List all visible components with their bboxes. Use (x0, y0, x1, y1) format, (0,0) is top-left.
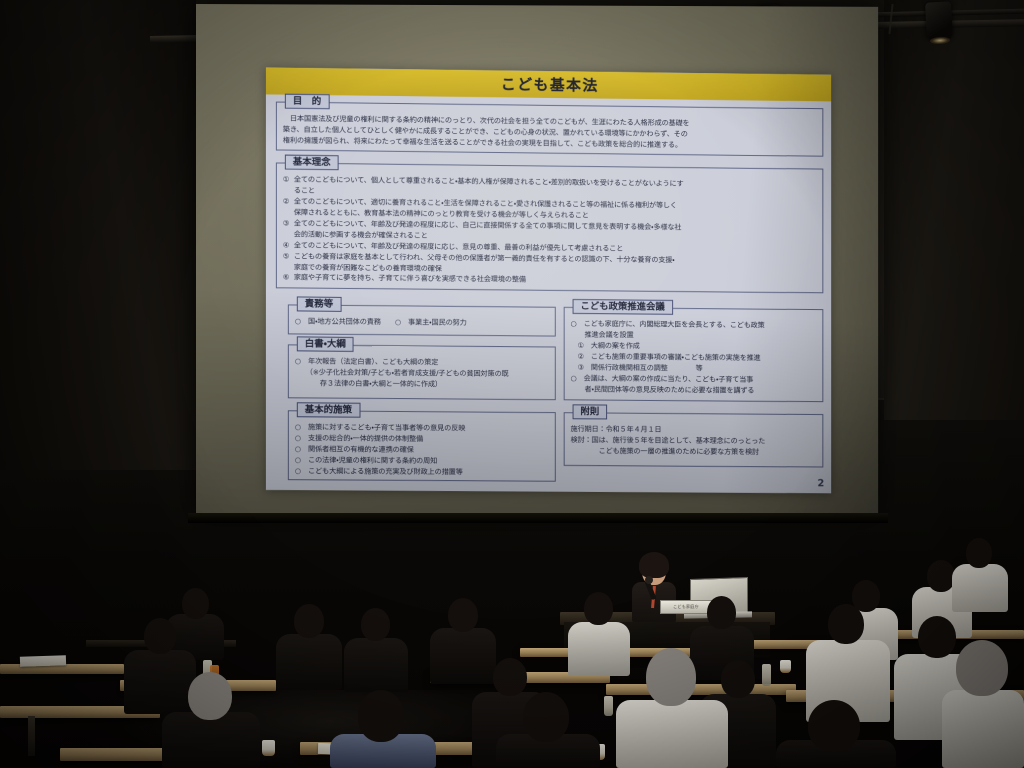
audience-person (496, 692, 600, 768)
slide-section-basic-measures-label: 基本的施策 (297, 402, 360, 417)
conference-room-photo: こども基本法 目 的 日本国憲法及び児童の権利に関する条約の精神にのっとり、次代… (0, 0, 1024, 768)
slide-section-supplementary-label: 附則 (573, 404, 608, 419)
slide-section-council: こども政策推進会議 ○ こども家庭庁に、内閣総理大臣を会長とする、こども政策 推… (564, 307, 824, 402)
person-torso (952, 564, 1008, 612)
paper-cup (262, 740, 275, 756)
person-head (646, 648, 696, 706)
slide-section-purpose: 目 的 日本国憲法及び児童の権利に関する条約の精神にのっとり、次代の社会を担う全… (276, 102, 823, 157)
slide-section-whitepaper-label: 白書・大綱 (297, 336, 354, 351)
person-torso (344, 638, 408, 692)
slide-section-supplementary-body: 施行期日：令和５年４月１日 検討：国は、施行後５年を目途として、基本理念にのっと… (565, 413, 823, 462)
projection-screen: こども基本法 目 的 日本国憲法及び児童の権利に関する条約の精神にのっとり、次代… (196, 4, 878, 517)
person-head (448, 598, 478, 632)
principle-text: 家庭や子育てに夢を持ち、子育てに伴う喜びを実感できる社会環境の整備 (294, 273, 526, 284)
principle-marker: ⑤ (283, 251, 294, 262)
duties-item: ○ 国・地方公共団体の責務 ○ 事業主・国民の努力 (295, 316, 549, 329)
room-wall-right (884, 0, 1024, 420)
person-head (493, 658, 527, 696)
paper-cup (780, 660, 791, 673)
audience-person (776, 700, 896, 768)
slide-section-purpose-body: 日本国憲法及び児童の権利に関する条約の精神にのっとり、次代の社会を担う全てのこど… (277, 103, 822, 157)
slide-section-whitepaper: 白書・大綱 ○ 年次報告（法定白書）、こども大綱の策定 （※少子化社会対策/子ど… (288, 344, 556, 400)
water-bottle (604, 696, 613, 716)
person-head (188, 672, 232, 720)
presenter-hair (639, 552, 669, 578)
room-wall-left (0, 0, 196, 470)
slide-title: こども基本法 (266, 67, 831, 101)
principle-marker: ③ (283, 218, 294, 229)
council-item: 者・民間団体等の意見反映のために必要な措置を講ずる (571, 384, 817, 397)
person-torso (616, 700, 728, 768)
audience-person (276, 604, 342, 690)
audience-person (616, 648, 728, 768)
slide-section-duties: 責務等 ○ 国・地方公共団体の責務 ○ 事業主・国民の努力 (288, 304, 556, 336)
slide-section-principles: 基本理念 ①全てのこどもについて、個人として尊重されること・基本的人権が保障され… (276, 162, 823, 293)
slide-section-duties-label: 責務等 (297, 296, 341, 311)
person-torso (162, 712, 260, 768)
person-head (828, 604, 864, 644)
audience-person (330, 690, 436, 768)
microphone-head-icon (645, 576, 653, 584)
measure-item: ○ こども大綱による施策の充実及び財政上の措置等 (295, 466, 549, 478)
principle-marker: ⑥ (283, 273, 294, 284)
audience-person (344, 608, 408, 692)
slide-section-purpose-label: 目 的 (285, 94, 329, 110)
slide-section-principles-body: ①全てのこどもについて、個人として尊重されること・基本的人権が保障されること・差… (277, 163, 822, 292)
person-head (182, 588, 209, 619)
supplementary-item: こども施策の一層の推進のために必要な方策を検討 (571, 446, 817, 458)
person-head (144, 618, 176, 654)
principle-marker: ④ (283, 240, 294, 251)
audience-person (952, 538, 1008, 612)
whitepaper-item: 存３法律の白書・大綱と一体的に作成） (295, 378, 549, 391)
principle-marker: ② (283, 196, 294, 207)
slide-section-supplementary: 附則 施行期日：令和５年４月１日 検討：国は、施行後５年を目途として、基本理念に… (564, 412, 824, 467)
slide-section-whitepaper-body: ○ 年次報告（法定白書）、こども大綱の策定 （※少子化社会対策/子ども・若者育成… (289, 345, 555, 395)
slide-section-council-label: こども政策推進会議 (573, 299, 673, 315)
presentation-slide: こども基本法 目 的 日本国憲法及び児童の権利に関する条約の精神にのっとり、次代… (266, 67, 831, 493)
person-head (956, 640, 1008, 696)
slide-section-basic-measures: 基本的施策 ○ 施策に対するこども・子育て当事者等の意見の反映 ○ 支援の総合的… (288, 410, 556, 482)
person-head (361, 608, 390, 641)
person-head (927, 560, 955, 592)
stage-spotlight-icon (925, 1, 953, 40)
person-head (707, 596, 736, 629)
audience-person (162, 672, 260, 768)
person-torso (276, 634, 342, 690)
person-head (966, 538, 992, 568)
principle-text: 全てのこどもについて、年齢及び発達の程度に応じ、意見の尊重、最善の利益が優先して… (294, 240, 623, 252)
principle-marker: ① (283, 175, 294, 186)
person-head (294, 604, 324, 638)
document-stack (20, 655, 66, 667)
slide-section-principles-label: 基本理念 (285, 155, 339, 171)
projection-screen-bottom-frame (188, 513, 888, 523)
slide-section-basic-measures-body: ○ 施策に対するこども・子育て当事者等の意見の反映 ○ 支援の総合的・一体的提供… (289, 411, 555, 482)
person-head (523, 692, 569, 742)
person-head (358, 690, 404, 742)
slide-page-number: 2 (817, 478, 824, 489)
principle-text: 全てのこどもについて、個人として尊重されること・基本的人権が保障されること・差別… (294, 175, 684, 188)
audience-desk-left-back (0, 664, 124, 674)
audience-person (942, 640, 1024, 768)
person-head (808, 700, 860, 752)
slide-section-council-body: ○ こども家庭庁に、内閣総理大臣を会長とする、こども政策 推進会議を設置 ① 大… (565, 308, 823, 401)
person-head (584, 592, 613, 625)
person-torso (942, 690, 1024, 768)
desk-leg (28, 716, 35, 756)
